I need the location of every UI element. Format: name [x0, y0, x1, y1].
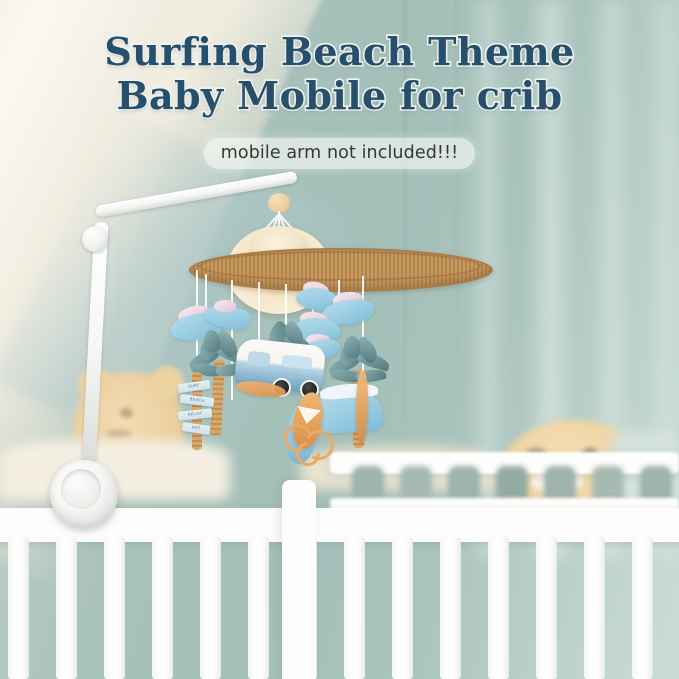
crib-slat	[488, 536, 509, 679]
crib-slat	[392, 536, 413, 679]
crib-back-gap	[400, 466, 432, 500]
crib-slat	[440, 536, 461, 679]
disclaimer-wrap: mobile arm not included!!!	[0, 138, 679, 169]
wave-crest	[214, 300, 236, 312]
mobile-music-box[interactable]	[50, 460, 118, 528]
crib-slat	[536, 536, 557, 679]
crib-slat	[8, 536, 29, 679]
crib-slat	[200, 536, 221, 679]
crib-slat	[56, 536, 77, 679]
crib-back-gap	[640, 466, 672, 500]
crib-slat	[344, 536, 365, 679]
crib-back-gap	[352, 466, 384, 500]
mobile-pompom	[268, 193, 290, 213]
plush-bear-mouth	[106, 430, 132, 438]
crib-slat	[632, 536, 653, 679]
mobile-crochet-ring-inner-edge	[199, 251, 481, 281]
wall-panel-seam	[404, 0, 406, 420]
crib-slat	[104, 536, 125, 679]
hanging-string	[258, 282, 260, 348]
product-photo-scene: SURF BEACH RELAX HOT Surfing Beach Theme…	[0, 0, 679, 679]
crib-slat	[584, 536, 605, 679]
van-window	[247, 351, 270, 367]
plush-bear-ear	[150, 366, 184, 398]
plush-bear-nose	[120, 408, 133, 418]
palm-frond	[344, 336, 360, 358]
crib-slat	[248, 536, 269, 679]
crib-back-gap	[544, 466, 576, 500]
crib-back-gap	[448, 466, 480, 500]
wall-panel-seam	[455, 0, 457, 400]
crib-back-gap	[592, 466, 624, 500]
crib-slat	[152, 536, 173, 679]
mobile-arm-joint	[82, 226, 108, 252]
crib-back-gap	[496, 466, 528, 500]
disclaimer-badge: mobile arm not included!!!	[204, 138, 476, 169]
crib-corner-post	[282, 480, 316, 679]
